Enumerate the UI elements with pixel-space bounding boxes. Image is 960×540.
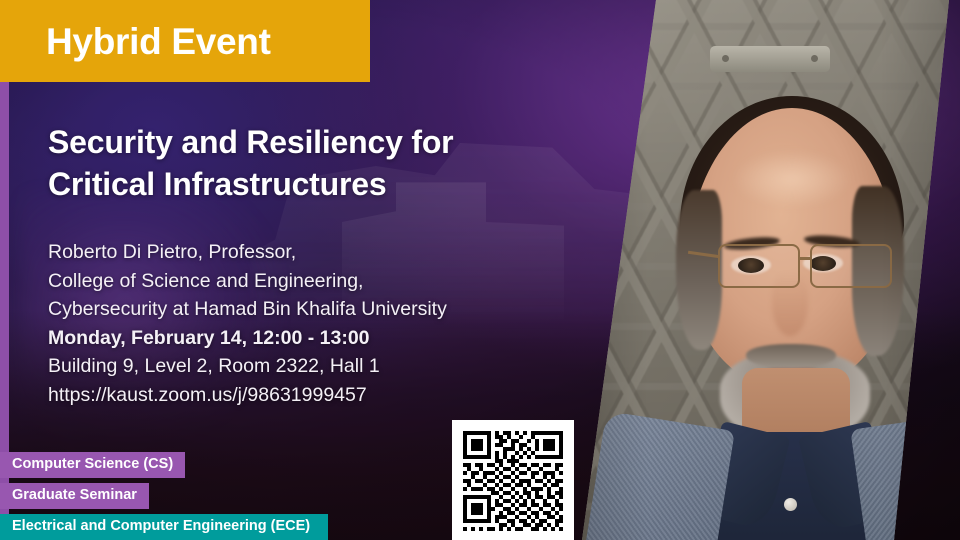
hybrid-event-banner: Hybrid Event [0,0,370,82]
lens-right [810,244,892,288]
eyeglasses [710,244,920,296]
qr-code-matrix [463,431,563,531]
topic-tag-row: Computer Science (CS) [0,452,328,478]
forehead-highlight [732,150,852,208]
glasses-bridge [800,257,812,260]
event-details: Roberto Di Pietro, Professor, College of… [48,238,553,409]
nose [772,272,808,336]
wall-metal-plate [710,46,830,72]
event-location: Building 9, Level 2, Room 2322, Hall 1 [48,352,553,381]
topic-tag[interactable]: Computer Science (CS) [0,452,185,478]
topic-tag[interactable]: Graduate Seminar [0,483,149,509]
hybrid-event-label: Hybrid Event [46,23,271,60]
shirt-button [784,498,797,511]
topic-tag-row: Graduate Seminar [0,483,328,509]
topic-tag[interactable]: Electrical and Computer Engineering (ECE… [0,514,328,540]
zoom-link[interactable]: https://kaust.zoom.us/j/98631999457 [48,381,553,410]
topic-tag-list: Computer Science (CS)Graduate SeminarEle… [0,452,328,540]
jacket-left-shoulder [583,411,735,540]
speaker-affiliation-line-1: College of Science and Engineering, [48,267,553,296]
qr-code[interactable] [452,420,574,540]
qr-module [559,527,563,531]
moustache [746,344,836,368]
title-line-2: Critical Infrastructures [48,164,548,206]
title-line-1: Security and Resiliency for [48,122,548,164]
page-title: Security and Resiliency for Critical Inf… [48,122,548,205]
speaker-name: Roberto Di Pietro, Professor, [48,238,553,267]
event-datetime: Monday, February 14, 12:00 - 13:00 [48,324,553,353]
event-poster: Hybrid Event Security and Resiliency for… [0,0,960,540]
topic-tag-row: Electrical and Computer Engineering (ECE… [0,514,328,540]
speaker-affiliation-line-2: Cybersecurity at Hamad Bin Khalifa Unive… [48,295,553,324]
